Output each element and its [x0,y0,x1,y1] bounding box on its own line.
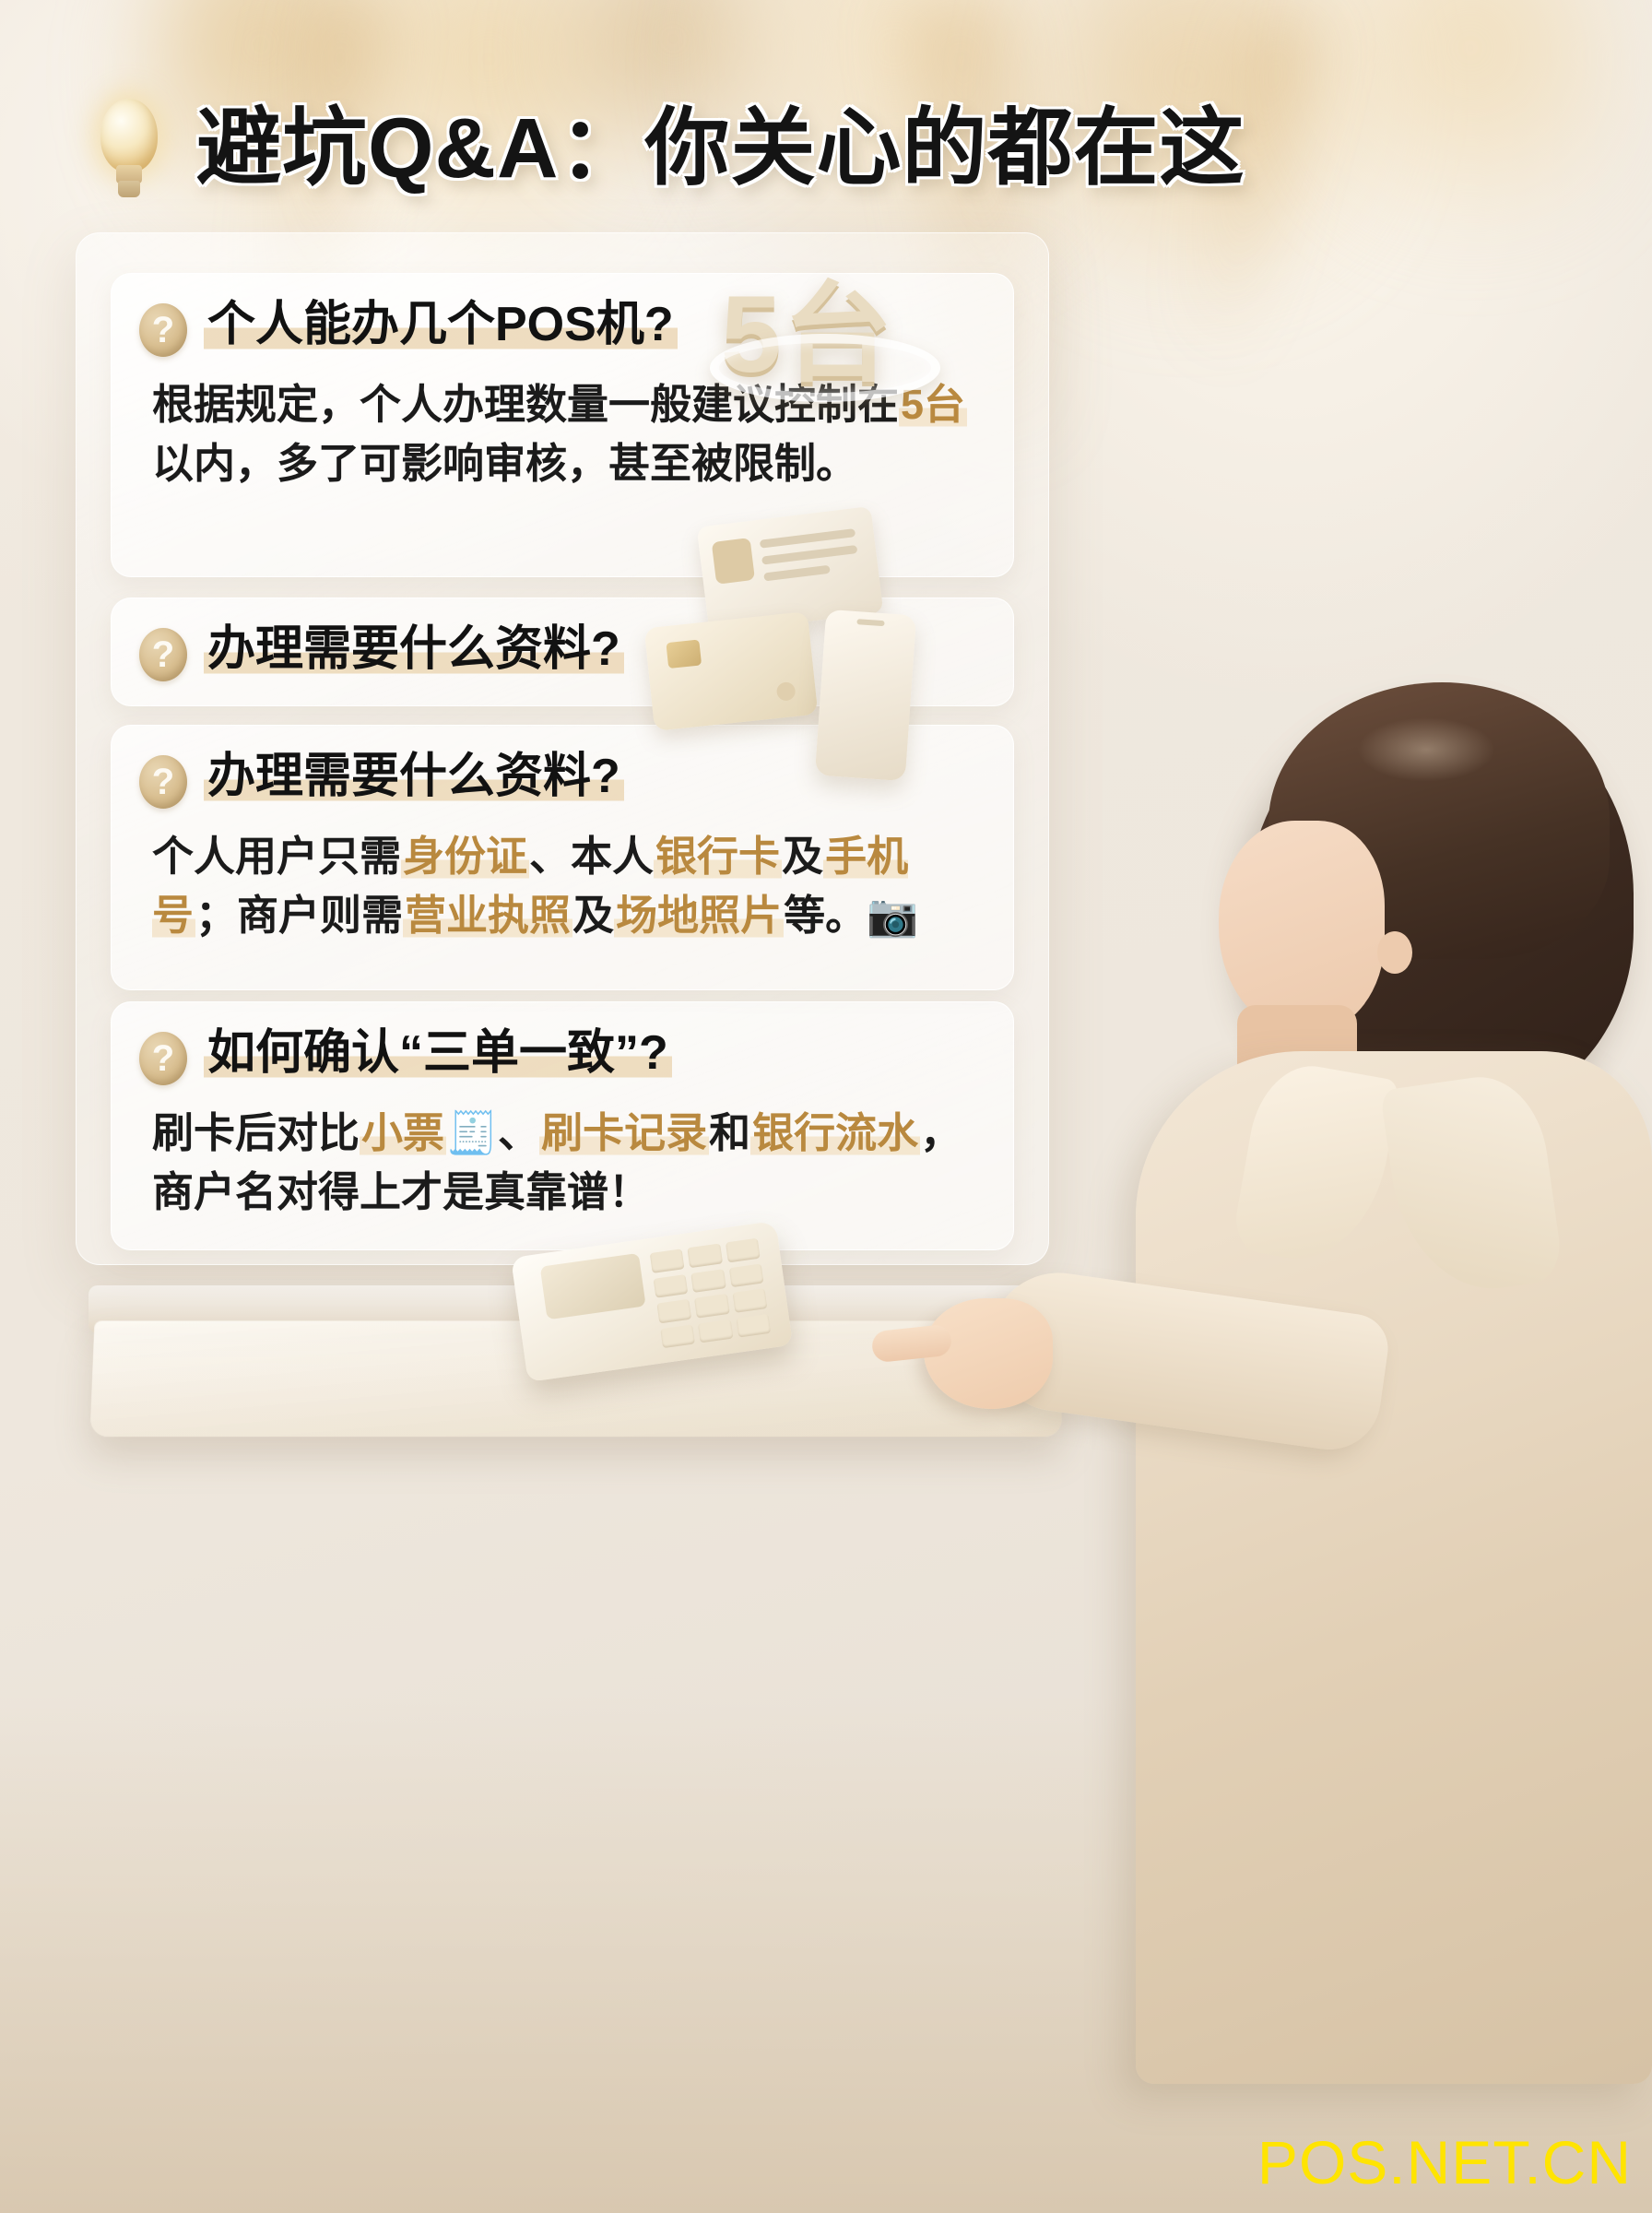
qa-card-title: 如何确认“三单一致”? [204,1026,672,1080]
pos-key [660,1324,695,1348]
pos-key [650,1249,685,1272]
body-text: 、本人 [529,833,654,880]
highlight-text: 银行流水 [750,1109,920,1156]
highlight-text: 场地照片 [614,892,784,939]
pos-key [732,1288,767,1312]
question-mark-icon: ? [139,628,187,681]
body-text: 及 [782,833,823,880]
lightbulb-base [118,181,140,197]
pos-key [694,1294,729,1318]
question-mark-icon: ? [139,755,187,809]
body-text: 商户则需 [237,892,403,939]
body-text: 以内，多了可影响审核，甚至被限制。 [152,440,857,487]
page-title: 避坑Q&A：你关心的都在这 [196,106,1245,191]
site-watermark: POS.NET.CN [1257,2132,1632,2193]
person-figure-icon [896,682,1652,2213]
qa-card-title: 办理需要什么资料? [204,622,624,676]
qa-card-body: 刷卡后对比小票🧾、刷卡记录和银行流水，商户名对得上才是真靠谱！ [152,1104,982,1222]
body-text: 个人用户只需 [152,833,401,880]
qa-card-title: 个人能办几个POS机? [204,298,678,351]
pos-keypad [650,1238,771,1348]
pos-key [691,1269,726,1293]
body-text: ； [195,892,237,939]
body-text: 🧾、 [446,1109,539,1156]
pos-key [726,1238,761,1262]
person-face [1219,821,1385,1033]
pos-key [656,1299,691,1323]
pos-key [698,1319,733,1343]
id-line [763,565,831,582]
highlight-text: 身份证 [401,833,529,880]
person-hair-highlight [1357,717,1495,782]
pos-key [688,1243,723,1267]
highlight-text: 营业执照 [403,892,572,939]
five-units-prop: 5台 [701,240,977,424]
pos-key [736,1313,771,1337]
page-header: 避坑Q&A：你关心的都在这 [0,89,1652,208]
body-text: 及 [572,892,614,939]
five-units-ring [710,334,940,402]
person-ear [1377,931,1412,974]
qa-card-header: ? 如何确认“三单一致”? [139,1026,982,1085]
question-mark-icon: ? [139,303,187,357]
highlight-text: 刷卡记录 [539,1109,709,1156]
bank-card-icon [644,611,819,731]
pos-key [728,1263,763,1287]
id-photo [712,538,755,585]
highlight-text: 银行卡 [654,833,782,880]
pos-body [511,1221,793,1382]
lightbulb-icon [88,93,172,204]
id-line [760,528,855,549]
phone-speaker [856,619,884,626]
qa-card-title: 办理需要什么资料? [204,750,624,803]
id-line [761,545,857,565]
body-text: 和 [709,1109,750,1156]
qa-card-body: 个人用户只需身份证、本人银行卡及手机号；商户则需营业执照及场地照片等。📷 [152,827,982,945]
pos-key [654,1273,689,1297]
lightbulb-glass [100,99,158,172]
card-chip [666,639,702,669]
highlight-text: 小票 [360,1109,446,1156]
body-text: 刷卡后对比 [152,1109,360,1156]
person-body [1136,1051,1652,2084]
question-mark-icon: ? [139,1032,187,1085]
card-logo-dot [776,681,796,702]
pos-screen [540,1253,646,1320]
